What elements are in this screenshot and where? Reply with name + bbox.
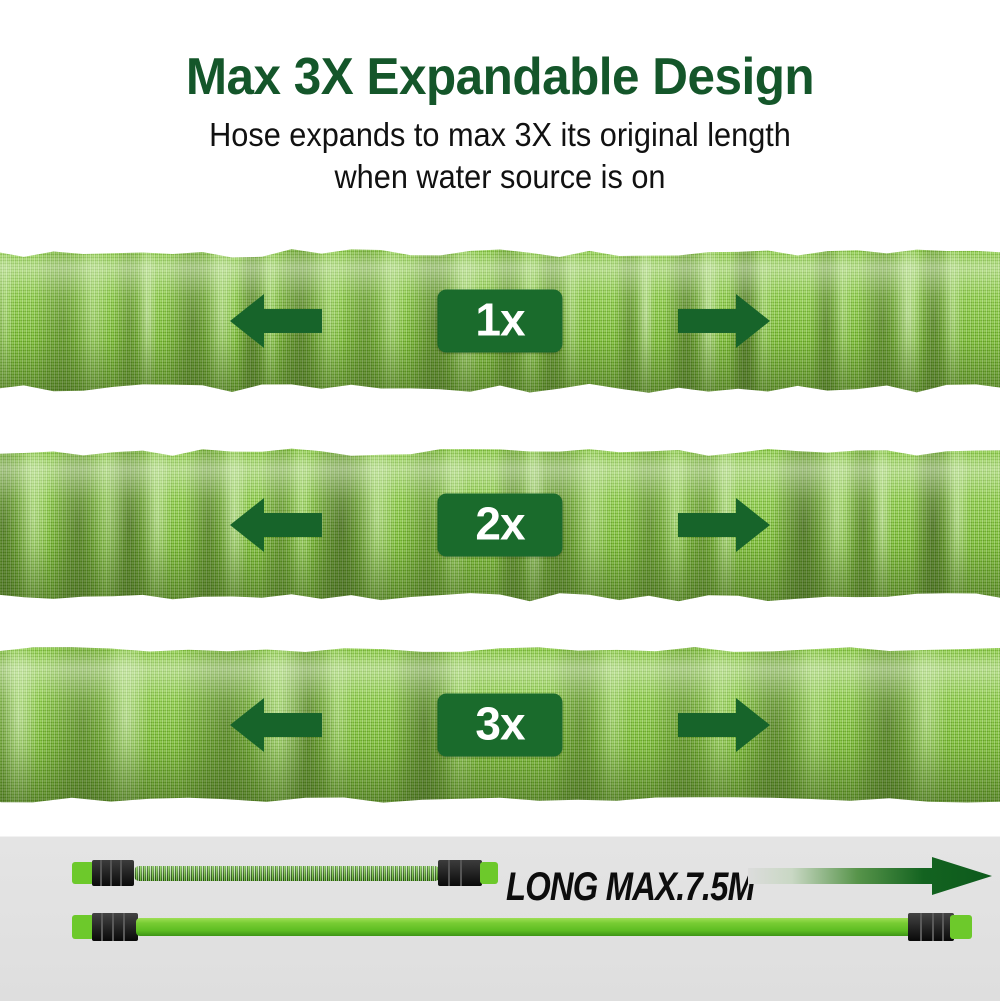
hose-bottom-edge-1x xyxy=(0,371,1000,397)
hose-bottom-edge-2x xyxy=(0,579,1000,605)
arrow-right-icon xyxy=(678,496,770,554)
hose-end-cap-right xyxy=(950,915,972,939)
page-subtitle: Hose expands to max 3X its original leng… xyxy=(35,114,965,198)
comparison-panel: LONG MAX.7.5M xyxy=(0,836,1000,1001)
header: Max 3X Expandable Design Hose expands to… xyxy=(0,0,1000,215)
expanded-hose-body xyxy=(136,918,920,936)
multiplier-badge-2x: 2x xyxy=(437,494,562,557)
multiplier-badge-3x: 3x xyxy=(437,694,562,757)
hose-top-edge-1x xyxy=(0,245,1000,271)
connector-ring xyxy=(932,913,934,941)
subtitle-line-2: when water source is on xyxy=(35,156,965,198)
connector-ring xyxy=(100,860,102,886)
connector-ring xyxy=(110,860,112,886)
hose-top-edge-3x xyxy=(0,645,1000,671)
product-infographic: Max 3X Expandable Design Hose expands to… xyxy=(0,0,1000,1000)
gradient-arrow-right-icon xyxy=(748,857,992,895)
contracted-hose-row: LONG MAX.7.5M xyxy=(0,837,1000,897)
page-title: Max 3X Expandable Design xyxy=(25,50,975,105)
arrow-right-icon xyxy=(678,292,770,350)
subtitle-line-1: Hose expands to max 3X its original leng… xyxy=(209,116,791,153)
hose-band-2x: 2x xyxy=(0,446,1000,604)
connector-ring xyxy=(120,860,122,886)
multiplier-badge-1x: 1x xyxy=(437,290,562,353)
hose-top-edge-2x xyxy=(0,445,1000,471)
arrow-right-icon xyxy=(678,696,770,754)
hose-end-cap-left xyxy=(72,915,94,939)
hose-connector-left xyxy=(92,913,138,941)
connector-ring xyxy=(112,913,114,941)
connector-ring xyxy=(920,913,922,941)
hose-end-cap-right xyxy=(480,862,498,884)
arrow-left-icon xyxy=(230,696,322,754)
hose-connector-left xyxy=(92,860,134,886)
connector-ring xyxy=(123,913,125,941)
hose-band-1x: 1x xyxy=(0,246,1000,396)
expanded-hose-row xyxy=(0,901,1000,951)
arrow-left-icon xyxy=(230,496,322,554)
connector-ring xyxy=(942,913,944,941)
connector-ring xyxy=(448,860,450,886)
hose-band-3x: 3x xyxy=(0,646,1000,804)
hose-connector-right xyxy=(438,860,482,886)
hose-end-cap-left xyxy=(72,862,94,884)
connector-ring xyxy=(101,913,103,941)
connector-ring xyxy=(460,860,462,886)
hose-connector-right xyxy=(908,913,954,941)
contracted-hose-body xyxy=(134,866,440,881)
hose-bottom-edge-3x xyxy=(0,779,1000,805)
arrow-left-icon xyxy=(230,292,322,350)
